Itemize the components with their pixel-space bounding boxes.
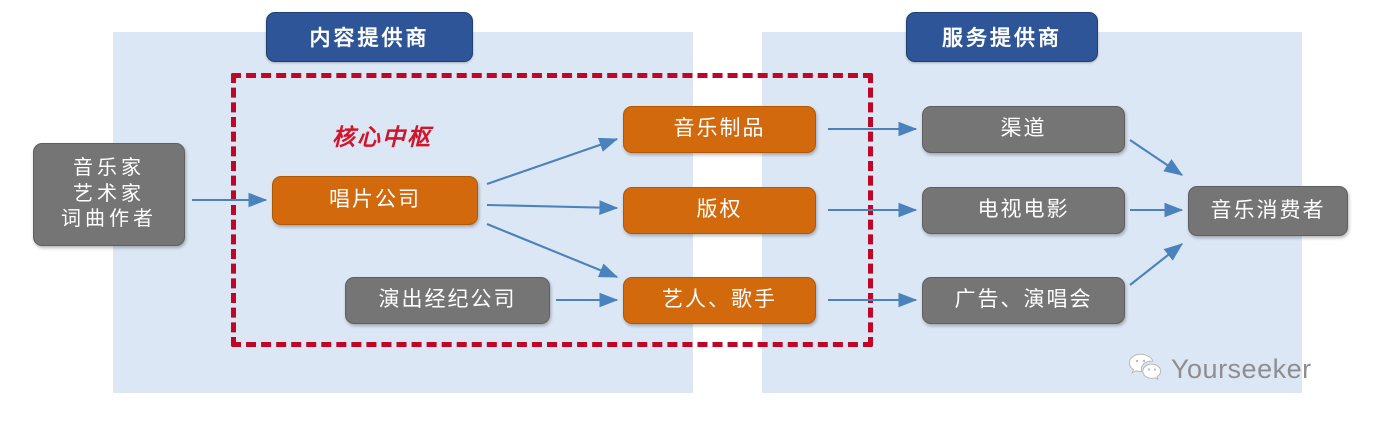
node-tv-film: 电视电影 bbox=[922, 187, 1125, 234]
watermark: Yourseeker bbox=[1128, 352, 1312, 387]
node-creators: 音乐家 艺术家 词曲作者 bbox=[33, 143, 185, 246]
wechat-icon bbox=[1128, 352, 1162, 387]
node-performance-agency: 演出经纪公司 bbox=[345, 277, 550, 324]
node-record-label-company: 唱片公司 bbox=[272, 176, 478, 225]
diagram-canvas: 内容提供商 服务提供商 核心中枢 音乐家 艺术家 词曲作者 唱片公司 演出经纪公… bbox=[0, 0, 1397, 427]
node-channels: 渠道 bbox=[922, 106, 1125, 153]
watermark-text: Yourseeker bbox=[1171, 354, 1312, 385]
core-hub-annotation: 核心中枢 bbox=[332, 118, 432, 152]
banner-service-provider: 服务提供商 bbox=[906, 12, 1098, 62]
node-music-products: 音乐制品 bbox=[623, 106, 816, 153]
node-artists-singers: 艺人、歌手 bbox=[623, 277, 816, 324]
node-ads-concerts: 广告、演唱会 bbox=[922, 277, 1125, 324]
node-music-consumers: 音乐消费者 bbox=[1188, 186, 1348, 236]
banner-content-provider: 内容提供商 bbox=[266, 12, 473, 62]
node-copyright: 版权 bbox=[623, 187, 816, 234]
